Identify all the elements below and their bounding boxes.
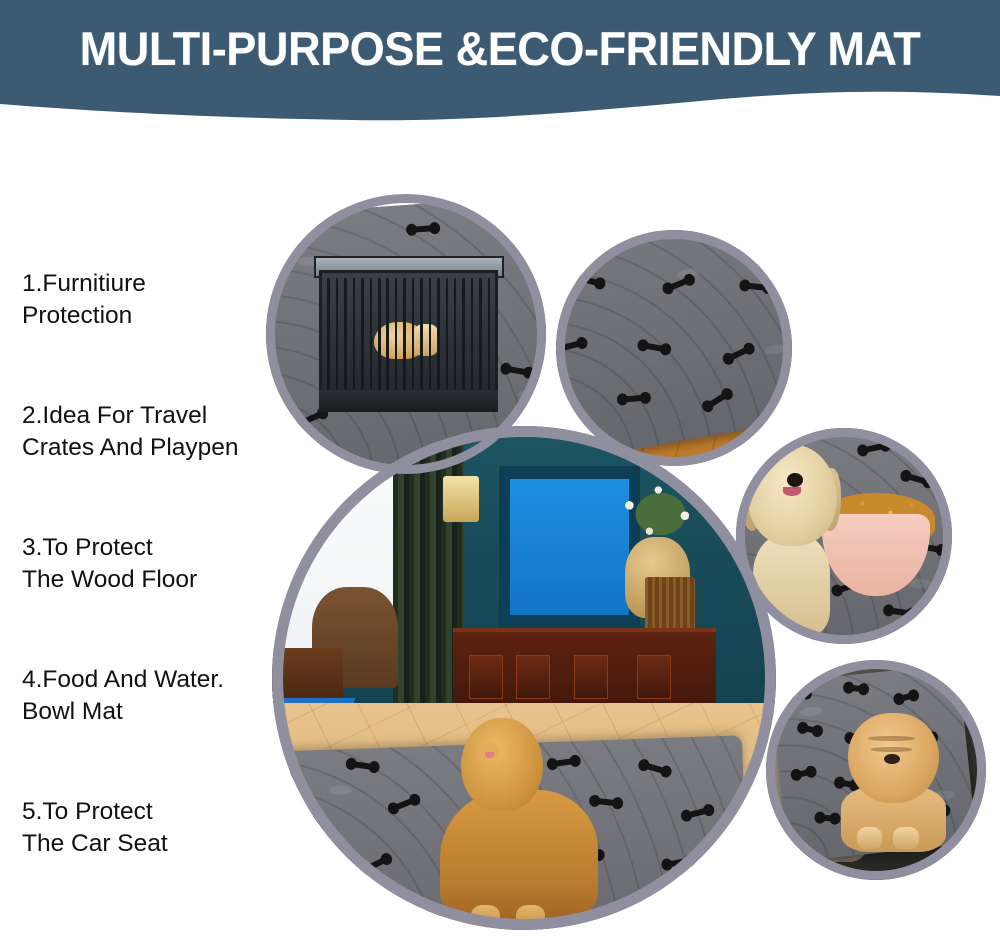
golden-retriever (433, 718, 604, 930)
dog-mouth (783, 487, 801, 496)
photo-collage (0, 130, 1000, 946)
puppy-wrinkle (868, 736, 916, 741)
photo-living-room (272, 426, 776, 930)
puppy-nose (884, 754, 900, 764)
console-drawer (469, 655, 503, 699)
console-drawer (516, 655, 550, 699)
dog-head (461, 718, 543, 811)
crate-body (319, 270, 498, 399)
dog-body (440, 790, 598, 925)
table-lamp (443, 476, 478, 521)
dog-tongue (485, 752, 493, 759)
dog-nose (787, 473, 803, 487)
living-room-scene (272, 426, 776, 930)
side-table (272, 648, 343, 703)
dog-paw (516, 905, 545, 930)
console-drawer (637, 655, 671, 699)
dog-paw (471, 905, 500, 930)
puppy-paw (857, 827, 882, 849)
dog-chest (753, 534, 830, 634)
console-drawer (574, 655, 608, 699)
puppy-paw (893, 827, 918, 849)
page-title: MULTI-PURPOSE &ECO-FRIENDLY MAT (20, 22, 980, 76)
mastiff-puppy (841, 713, 955, 849)
golden-retriever (736, 445, 848, 631)
food-bowl-scene (736, 428, 952, 644)
photo-food-bowl (736, 428, 952, 644)
puppy-head (848, 713, 940, 803)
infographic-page: MULTI-PURPOSE &ECO-FRIENDLY MAT 1.Furnit… (0, 0, 1000, 946)
crate-bars (327, 278, 490, 391)
photo-car-seat (766, 660, 986, 880)
car-seat-scene (766, 660, 986, 880)
puppy-wrinkle (871, 747, 911, 752)
crate-base-tray (319, 390, 498, 412)
header-banner: MULTI-PURPOSE &ECO-FRIENDLY MAT (0, 0, 1000, 132)
dog-head (748, 445, 837, 545)
